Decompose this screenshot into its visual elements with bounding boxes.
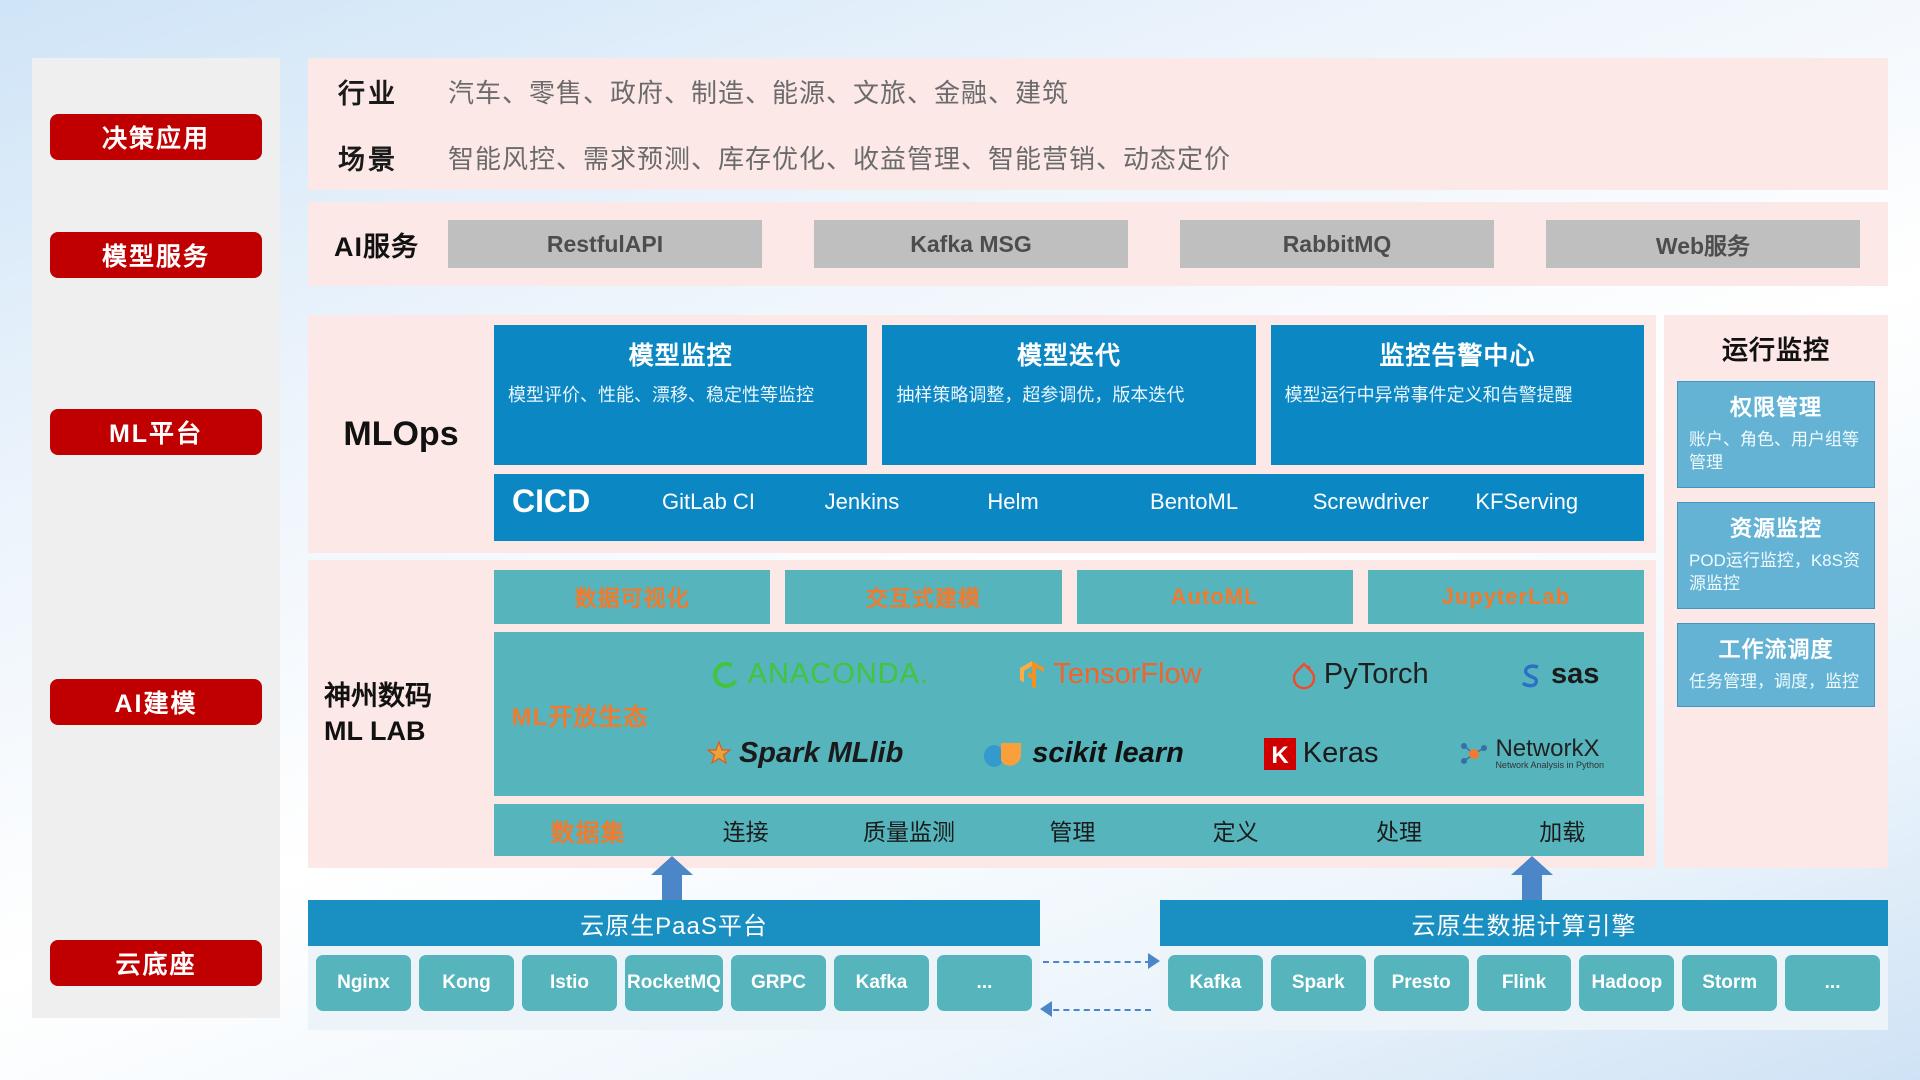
cicd-item-kfserving[interactable]: KFServing	[1475, 485, 1638, 514]
engine-chip-spark[interactable]: Spark	[1271, 955, 1366, 1011]
dataset-item-define[interactable]: 定义	[1154, 813, 1317, 847]
card-title: 模型监控	[508, 336, 853, 372]
networkx-icon	[1458, 740, 1488, 768]
ai-service-label: AI服务	[308, 225, 448, 264]
tensorflow-icon	[1018, 659, 1046, 691]
card-title: 权限管理	[1689, 390, 1863, 422]
cicd-item-jenkins[interactable]: Jenkins	[825, 485, 988, 514]
run-monitor-panel: 运行监控 权限管理 账户、角色、用户组等管理 资源监控 POD运行监控，K8S资…	[1664, 315, 1888, 868]
rail-item-label: 决策应用	[102, 119, 210, 155]
svg-text:K: K	[1271, 742, 1289, 769]
spark-mllib-logo: Spark MLlib	[706, 737, 903, 770]
ai-service-chip-rabbitmq[interactable]: RabbitMQ	[1180, 220, 1494, 268]
sas-icon	[1518, 661, 1544, 689]
monitor-card-resource[interactable]: 资源监控 POD运行监控，K8S资源监控	[1677, 502, 1875, 609]
pytorch-logo: PyTorch	[1291, 658, 1429, 691]
arrow-up-paas-icon	[651, 856, 693, 900]
mlops-panel: MLOps 模型监控 模型评价、性能、漂移、稳定性等监控 模型迭代 抽样策略调整…	[308, 315, 1656, 553]
engine-chip-more[interactable]: ...	[1785, 955, 1880, 1011]
cloud-chip-more[interactable]: ...	[937, 955, 1032, 1011]
anaconda-icon	[711, 660, 741, 690]
card-desc: 任务管理，调度，监控	[1689, 671, 1863, 694]
lab-tool-jupyterlab[interactable]: JupyterLab	[1368, 570, 1644, 624]
spark-star-icon	[706, 741, 732, 767]
engine-chip-hadoop[interactable]: Hadoop	[1579, 955, 1674, 1011]
dataset-item-manage[interactable]: 管理	[991, 813, 1154, 847]
ml-lab-label-line1: 神州数码	[324, 679, 494, 714]
mlops-card-model-monitoring[interactable]: 模型监控 模型评价、性能、漂移、稳定性等监控	[494, 325, 867, 465]
sas-label: sas	[1551, 658, 1599, 691]
networkx-subtitle: Network Analysis in Python	[1495, 761, 1604, 770]
dashed-connector-bottom	[1043, 1009, 1151, 1011]
anaconda-label: ANACONDA.	[748, 658, 929, 691]
mlops-card-alert-center[interactable]: 监控告警中心 模型运行中异常事件定义和告警提醒	[1271, 325, 1644, 465]
rail-item-ml-platform[interactable]: ML平台	[50, 409, 262, 455]
engine-chip-storm[interactable]: Storm	[1682, 955, 1777, 1011]
rail-item-ai-modeling[interactable]: AI建模	[50, 679, 262, 725]
cloud-paas-title: 云原生PaaS平台	[308, 900, 1040, 946]
card-desc: 模型运行中异常事件定义和告警提醒	[1285, 383, 1630, 408]
dashed-connector-top	[1043, 961, 1151, 963]
architecture-diagram: 决策应用 模型服务 ML平台 AI建模 云底座 行业 汽车、零售、政府、制造、能…	[0, 0, 1920, 1080]
scenario-label: 场景	[308, 138, 448, 177]
rail-item-label: ML平台	[109, 414, 203, 450]
ai-service-chip-restfulapi[interactable]: RestfulAPI	[448, 220, 762, 268]
cloud-chip-nginx[interactable]: Nginx	[316, 955, 411, 1011]
lab-tool-interactive-modeling[interactable]: 交互式建模	[785, 570, 1061, 624]
pytorch-icon	[1291, 660, 1317, 690]
keras-icon: K	[1264, 738, 1296, 770]
industry-label: 行业	[308, 72, 448, 111]
dataset-item-connect[interactable]: 连接	[664, 813, 827, 847]
card-desc: POD运行监控，K8S资源监控	[1689, 550, 1863, 596]
rail-item-cloud-base[interactable]: 云底座	[50, 940, 262, 986]
ml-ecosystem-row: ML开放生态 ANACONDA.	[494, 632, 1644, 796]
cicd-item-helm[interactable]: Helm	[987, 485, 1150, 514]
arrow-up-data-engine-icon	[1511, 856, 1553, 900]
cloud-data-engine-panel: 云原生数据计算引擎 Kafka Spark Presto Flink Hadoo…	[1160, 900, 1888, 1030]
industry-row: 行业 汽车、零售、政府、制造、能源、文旅、金融、建筑	[308, 58, 1888, 124]
ai-service-chip-kafka-msg[interactable]: Kafka MSG	[814, 220, 1128, 268]
ml-lab-panel: 神州数码 ML LAB 数据可视化 交互式建模 AutoML JupyterLa…	[308, 560, 1656, 868]
scenario-row: 场景 智能风控、需求预测、库存优化、收益管理、智能营销、动态定价	[308, 124, 1888, 190]
card-desc: 模型评价、性能、漂移、稳定性等监控	[508, 383, 853, 408]
cicd-item-gitlab-ci[interactable]: GitLab CI	[662, 485, 825, 514]
tensorflow-label: TensorFlow	[1053, 658, 1201, 691]
mlops-card-model-iteration[interactable]: 模型迭代 抽样策略调整，超参调优，版本迭代	[882, 325, 1255, 465]
ml-lab-label-line2: ML LAB	[324, 714, 494, 749]
engine-chip-kafka[interactable]: Kafka	[1168, 955, 1263, 1011]
cicd-title: CICD	[512, 485, 662, 517]
ai-service-chip-web-service[interactable]: Web服务	[1546, 220, 1860, 268]
cicd-item-screwdriver[interactable]: Screwdriver	[1313, 485, 1476, 514]
scikit-learn-logo: scikit learn	[983, 737, 1184, 770]
tensorflow-logo: TensorFlow	[1018, 658, 1201, 691]
business-panel: 行业 汽车、零售、政府、制造、能源、文旅、金融、建筑 场景 智能风控、需求预测、…	[308, 58, 1888, 190]
anaconda-logo: ANACONDA.	[711, 658, 929, 691]
mlops-card-group: 模型监控 模型评价、性能、漂移、稳定性等监控 模型迭代 抽样策略调整，超参调优，…	[494, 325, 1644, 465]
lab-tool-automl[interactable]: AutoML	[1077, 570, 1353, 624]
layer-rail: 决策应用 模型服务 ML平台 AI建模 云底座	[32, 58, 280, 1018]
dashed-arrow-right-icon	[1148, 953, 1160, 969]
rail-item-label: 模型服务	[102, 237, 210, 273]
sas-logo: sas	[1518, 658, 1599, 691]
networkx-logo: NetworkX Network Analysis in Python	[1458, 737, 1604, 770]
card-title: 监控告警中心	[1285, 336, 1630, 372]
monitor-card-permission[interactable]: 权限管理 账户、角色、用户组等管理	[1677, 381, 1875, 488]
cloud-chip-istio[interactable]: Istio	[522, 955, 617, 1011]
pytorch-label: PyTorch	[1324, 658, 1429, 691]
ai-service-panel: AI服务 RestfulAPI Kafka MSG RabbitMQ Web服务	[308, 202, 1888, 286]
dataset-item-process[interactable]: 处理	[1317, 813, 1480, 847]
scikit-learn-icon	[983, 739, 1025, 769]
dataset-item-load[interactable]: 加载	[1481, 813, 1644, 847]
spark-mllib-label: Spark MLlib	[739, 737, 903, 770]
card-title: 工作流调度	[1689, 632, 1863, 664]
cloud-chip-kong[interactable]: Kong	[419, 955, 514, 1011]
rail-item-label: 云底座	[115, 945, 196, 981]
scenario-list: 智能风控、需求预测、库存优化、收益管理、智能营销、动态定价	[448, 139, 1231, 176]
cloud-data-engine-title: 云原生数据计算引擎	[1160, 900, 1888, 946]
rail-item-label: AI建模	[114, 684, 197, 720]
run-monitor-title: 运行监控	[1664, 315, 1888, 367]
cloud-chip-grpc[interactable]: GRPC	[731, 955, 826, 1011]
keras-label: Keras	[1303, 737, 1379, 770]
lab-tool-row: 数据可视化 交互式建模 AutoML JupyterLab	[494, 570, 1644, 624]
mlops-label: MLOps	[308, 315, 494, 553]
monitor-card-workflow[interactable]: 工作流调度 任务管理，调度，监控	[1677, 623, 1875, 707]
engine-chip-flink[interactable]: Flink	[1477, 955, 1572, 1011]
card-title: 资源监控	[1689, 511, 1863, 543]
scikit-learn-label: scikit learn	[1032, 737, 1184, 770]
card-desc: 抽样策略调整，超参调优，版本迭代	[896, 383, 1241, 408]
cloud-chip-kafka[interactable]: Kafka	[834, 955, 929, 1011]
keras-logo: K Keras	[1264, 737, 1379, 770]
engine-chip-presto[interactable]: Presto	[1374, 955, 1469, 1011]
ml-ecosystem-label: ML开放生态	[494, 697, 666, 732]
rail-item-model-service[interactable]: 模型服务	[50, 232, 262, 278]
ml-lab-label: 神州数码 ML LAB	[308, 560, 494, 868]
cicd-row: CICD GitLab CI Jenkins Helm BentoML Scre…	[494, 474, 1644, 541]
cloud-paas-panel: 云原生PaaS平台 Nginx Kong Istio RocketMQ GRPC…	[308, 900, 1040, 1030]
networkx-label: NetworkX	[1495, 737, 1604, 761]
lab-tool-data-visualization[interactable]: 数据可视化	[494, 570, 770, 624]
card-desc: 账户、角色、用户组等管理	[1689, 429, 1863, 475]
dataset-title: 数据集	[512, 813, 664, 848]
cicd-item-bentoml[interactable]: BentoML	[1150, 485, 1313, 514]
industry-list: 汽车、零售、政府、制造、能源、文旅、金融、建筑	[448, 73, 1069, 110]
rail-item-decision-app[interactable]: 决策应用	[50, 114, 262, 160]
card-title: 模型迭代	[896, 336, 1241, 372]
dataset-row: 数据集 连接 质量监测 管理 定义 处理 加载	[494, 804, 1644, 856]
dashed-arrow-left-icon	[1040, 1001, 1052, 1017]
ai-service-chips: RestfulAPI Kafka MSG RabbitMQ Web服务	[448, 220, 1888, 268]
dataset-item-quality-monitoring[interactable]: 质量监测	[827, 813, 990, 847]
cloud-chip-rocketmq[interactable]: RocketMQ	[625, 955, 723, 1011]
